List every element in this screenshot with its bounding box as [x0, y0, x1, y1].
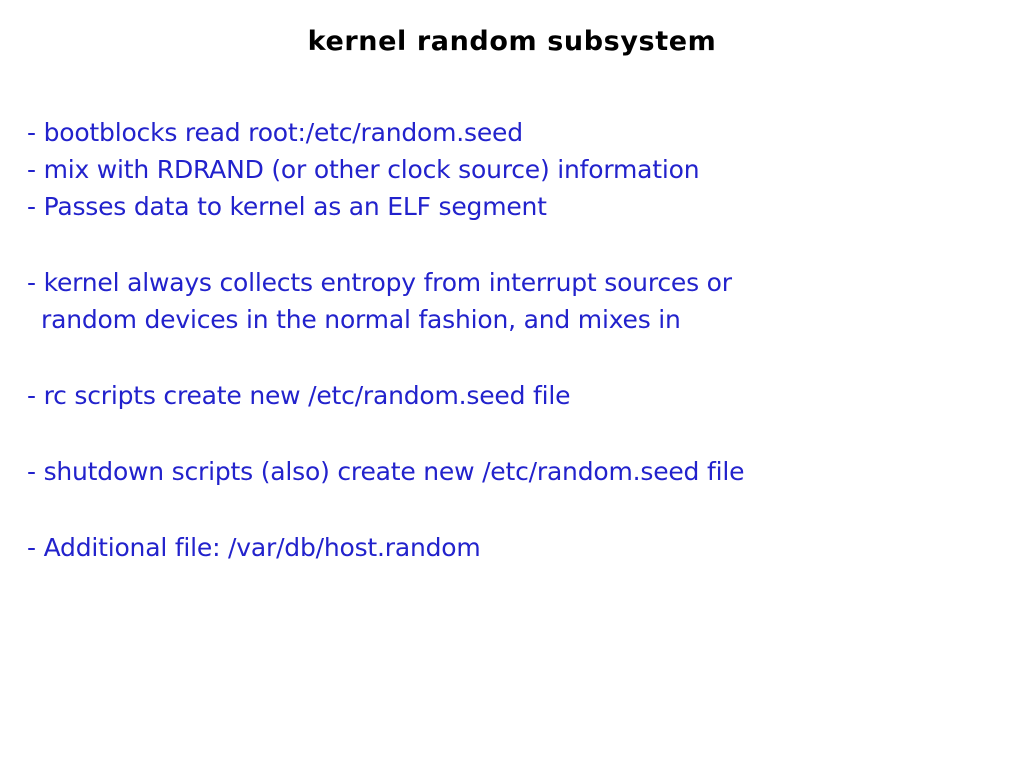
bullet-line-continuation: random devices in the normal fashion, an…: [27, 301, 987, 338]
bullet-line: - kernel always collects entropy from in…: [27, 264, 987, 301]
slide-title: kernel random subsystem: [0, 26, 1024, 57]
bullet-group-kernel-entropy: - kernel always collects entropy from in…: [27, 264, 987, 338]
group-spacer: [27, 414, 987, 453]
bullet-group-rc-scripts: - rc scripts create new /etc/random.seed…: [27, 377, 987, 414]
group-spacer: [27, 490, 987, 529]
bullet-line: - rc scripts create new /etc/random.seed…: [27, 377, 987, 414]
group-spacer: [27, 338, 987, 377]
bullet-group-additional-file: - Additional file: /var/db/host.random: [27, 529, 987, 566]
bullet-line: - bootblocks read root:/etc/random.seed: [27, 114, 987, 151]
slide-body: - bootblocks read root:/etc/random.seed …: [27, 114, 987, 566]
bullet-group-shutdown-scripts: - shutdown scripts (also) create new /et…: [27, 453, 987, 490]
bullet-line: - Passes data to kernel as an ELF segmen…: [27, 188, 987, 225]
bullet-group-boot-sequence: - bootblocks read root:/etc/random.seed …: [27, 114, 987, 225]
bullet-line: - shutdown scripts (also) create new /et…: [27, 453, 987, 490]
bullet-line: - mix with RDRAND (or other clock source…: [27, 151, 987, 188]
group-spacer: [27, 225, 987, 264]
bullet-line: - Additional file: /var/db/host.random: [27, 529, 987, 566]
presentation-slide: kernel random subsystem - bootblocks rea…: [0, 0, 1024, 768]
